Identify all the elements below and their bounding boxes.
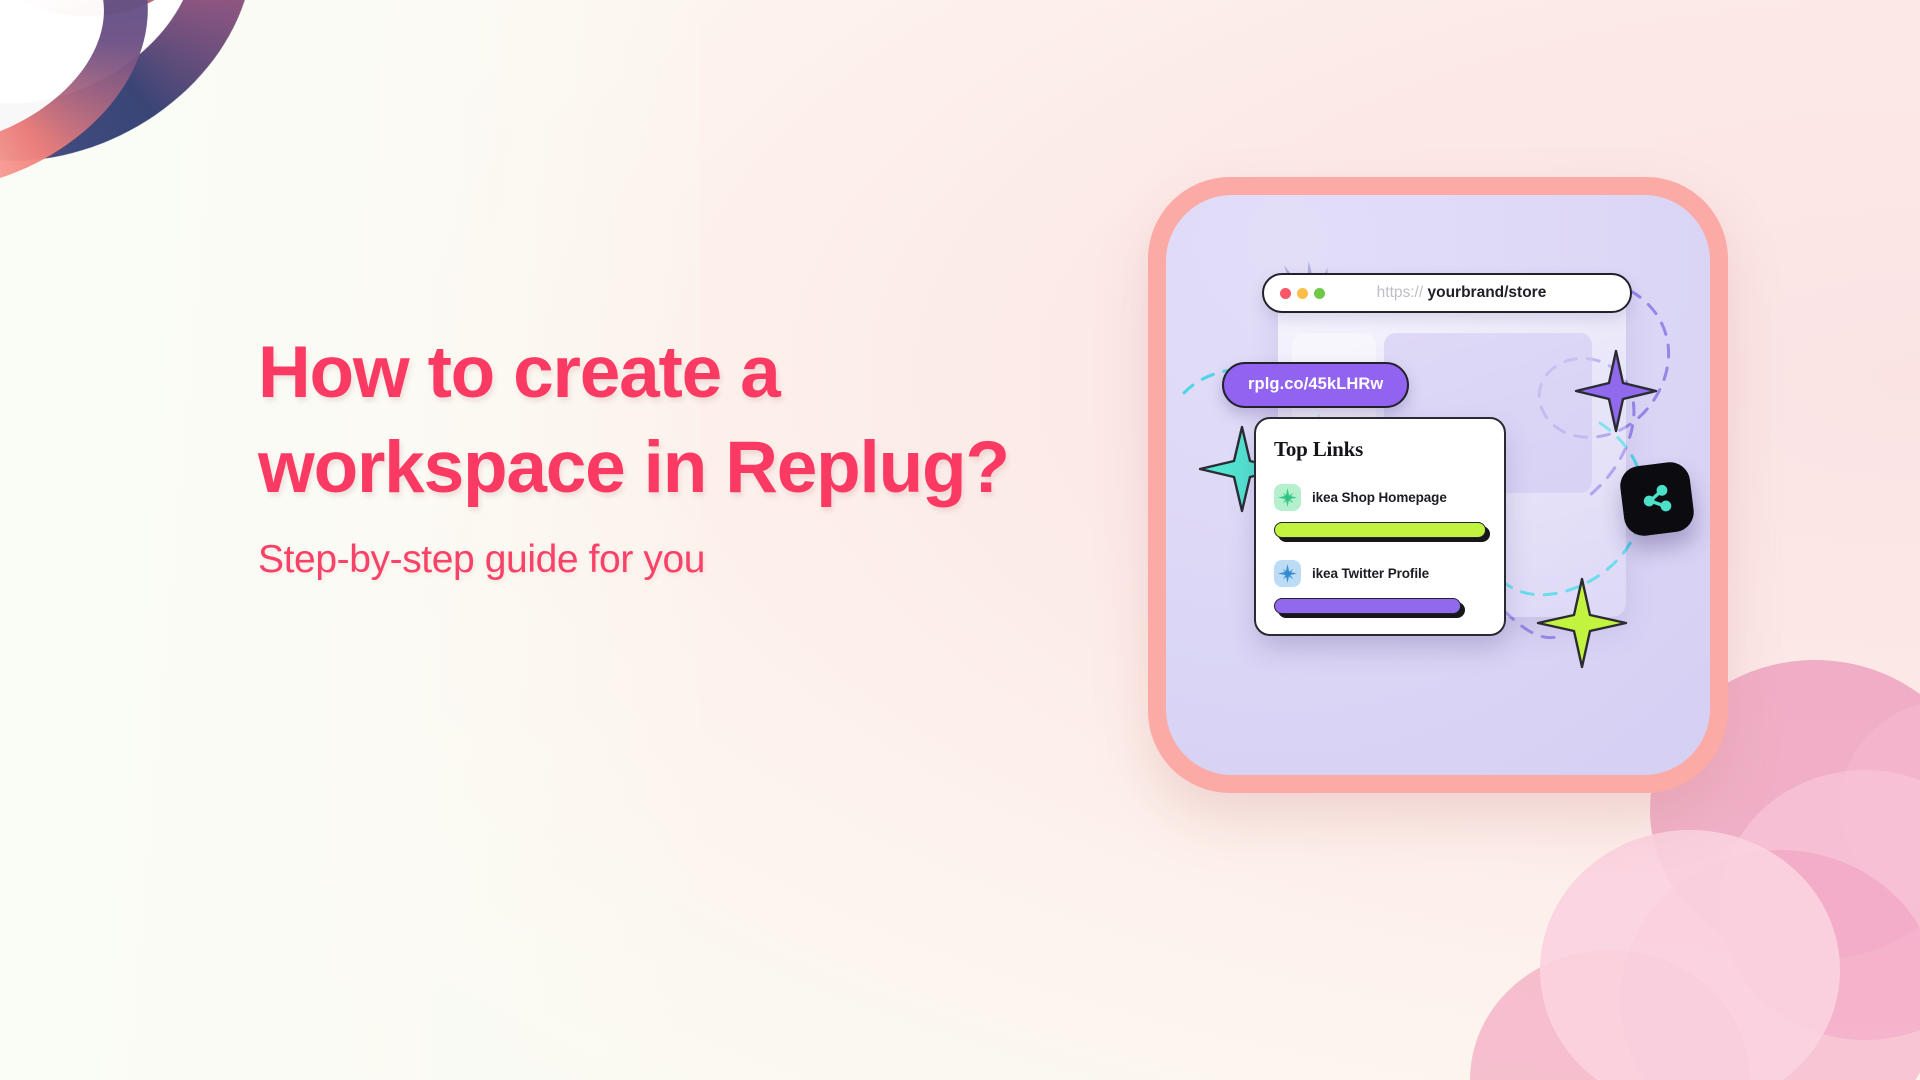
maximize-dot-icon[interactable]: [1314, 288, 1325, 299]
sparkle-lime: [1532, 573, 1632, 673]
minimize-dot-icon[interactable]: [1297, 288, 1308, 299]
top-links-title: Top Links: [1274, 437, 1486, 462]
illustration-card-inner: https:// yourbrand/store rplg.co/45kLHRw: [1166, 195, 1710, 775]
page-subtitle: Step-by-step guide for you: [258, 538, 1078, 582]
link-item-label: ikea Shop Homepage: [1312, 490, 1447, 505]
link-item-header: ikea Shop Homepage: [1274, 484, 1486, 511]
abstract-3d-ribbon-decoration: [0, 0, 352, 250]
page-title: How to create a workspace in Replug?: [258, 336, 1078, 504]
list-item[interactable]: ikea Twitter Profile: [1274, 560, 1486, 614]
close-dot-icon[interactable]: [1280, 288, 1291, 299]
share-nodes-badge[interactable]: [1618, 460, 1696, 538]
browser-url-bar[interactable]: https:// yourbrand/store: [1262, 273, 1632, 313]
progress-bar-wrapper: [1274, 522, 1486, 538]
sparkle-badge-icon-green: [1274, 484, 1301, 511]
url-text: https:// yourbrand/store: [1325, 284, 1614, 302]
traffic-lights: [1280, 288, 1325, 299]
link-item-label: ikea Twitter Profile: [1312, 566, 1429, 581]
progress-bar-fill: [1274, 522, 1486, 538]
link-item-header: ikea Twitter Profile: [1274, 560, 1486, 587]
sparkle-badge-icon-blue: [1274, 560, 1301, 587]
hero-text-block: How to create a workspace in Replug? Ste…: [258, 336, 1078, 582]
share-nodes-icon: [1635, 477, 1680, 522]
page-title-line-2: workspace in Replug?: [258, 431, 1078, 504]
illustration-card: https:// yourbrand/store rplg.co/45kLHRw: [1148, 177, 1728, 793]
url-scheme: https://: [1377, 284, 1424, 301]
short-link-pill[interactable]: rplg.co/45kLHRw: [1222, 362, 1409, 408]
page-title-line-1: How to create a: [258, 332, 780, 413]
progress-bar-wrapper: [1274, 598, 1486, 614]
url-host: yourbrand/store: [1427, 284, 1546, 301]
list-item[interactable]: ikea Shop Homepage: [1274, 484, 1486, 538]
sparkle-purple: [1570, 345, 1662, 437]
top-links-card: Top Links ikea Shop Homepage: [1254, 417, 1506, 636]
progress-bar-fill: [1274, 598, 1461, 614]
